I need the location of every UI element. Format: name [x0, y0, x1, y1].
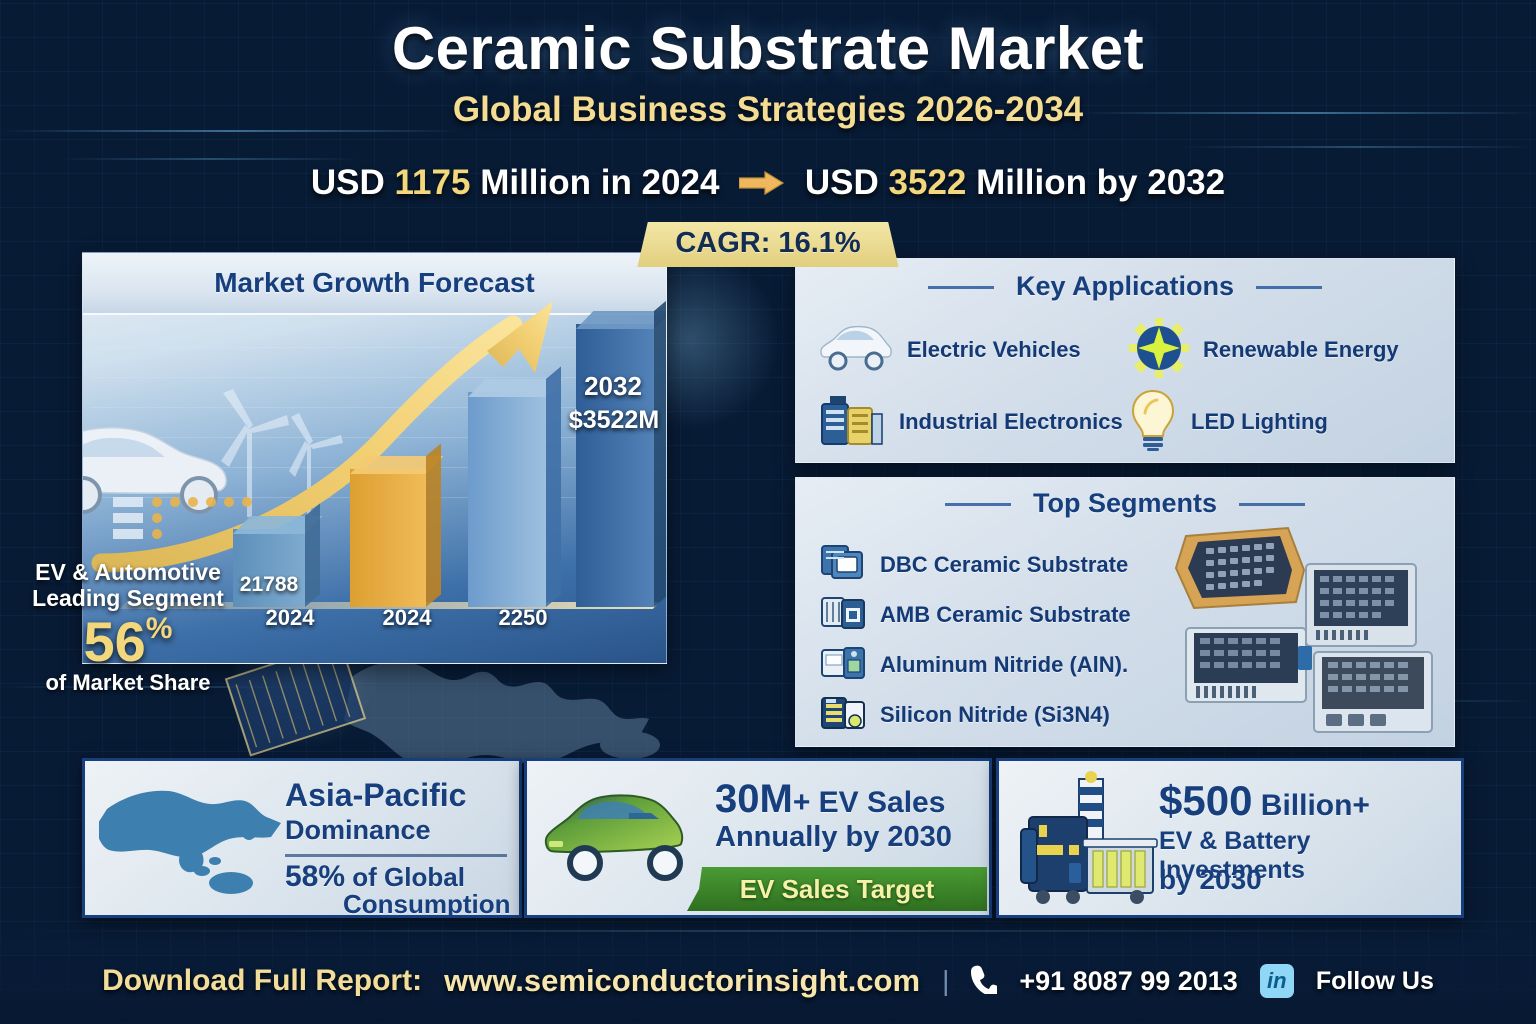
key-applications-title: Key Applications — [796, 271, 1454, 302]
inv-line-3: by 2030 — [1159, 864, 1262, 896]
car-icon — [818, 323, 894, 378]
ev-stat: 30M — [715, 777, 793, 821]
card-asia-pacific: Asia-Pacific Dominance 58% of Global Con… — [82, 758, 522, 918]
segment-label: Silicon Nitride (Si3N4) — [880, 702, 1110, 728]
value-start: 1175 — [395, 163, 471, 202]
divider — [285, 854, 507, 857]
inv-stat: $500 — [1159, 777, 1252, 824]
footer-url[interactable]: www.semiconductorinsight.com — [444, 963, 920, 999]
green-car-icon — [541, 789, 711, 889]
segment-label: Aluminum Nitride (AlN). — [880, 652, 1128, 678]
lightbulb-icon — [1128, 389, 1178, 456]
chart-bar — [576, 324, 654, 607]
linkedin-icon[interactable]: in — [1260, 964, 1294, 998]
app-item-electric-vehicles[interactable]: Electric Vehicles — [818, 316, 1128, 384]
card-ev-sales: 30M+ EV Sales Annually by 2030 EV Sales … — [524, 758, 992, 918]
chart-top-caption-value: $3522M — [549, 407, 667, 433]
apac-stat: 58% — [285, 860, 345, 893]
footer-cta-label: Download Full Report: — [102, 964, 422, 998]
callout-percent-symbol: % — [146, 612, 173, 645]
app-label: Industrial Electronics — [899, 409, 1123, 435]
ev-stat-line: 30M+ EV Sales — [715, 777, 945, 822]
top-segments-title-text: Top Segments — [1033, 488, 1217, 518]
value-start-tail: Million in 2024 — [480, 163, 719, 202]
top-segments-list: DBC Ceramic Substrate AMB Ceramic Substr… — [820, 540, 1131, 740]
ribbon-label: EV Sales Target — [740, 874, 935, 905]
bar-value-label: 21788 — [233, 573, 305, 597]
chip-module-icon — [820, 692, 866, 739]
footer-bar: Download Full Report: www.semiconductori… — [0, 938, 1536, 1024]
chart-bar: 21788 — [233, 529, 305, 607]
segment-label: DBC Ceramic Substrate — [880, 552, 1128, 578]
ev-stat-suffix: + EV Sales — [793, 786, 946, 819]
market-value-line: USD 1175 Million in 2024 USD 3522 Millio… — [0, 163, 1536, 205]
callout-line-1: EV & Automotive — [18, 560, 238, 586]
page-title: Ceramic Substrate Market — [0, 14, 1536, 83]
asia-map-icon — [99, 775, 289, 907]
value-end: 3522 — [889, 163, 967, 202]
callout-line-3: of Market Share — [18, 670, 238, 696]
app-item-industrial-electronics[interactable]: Industrial Electronics — [818, 388, 1128, 456]
segment-item-amb[interactable]: AMB Ceramic Substrate — [820, 590, 1131, 640]
app-label: Renewable Energy — [1203, 337, 1399, 363]
footer-follow-label: Follow Us — [1316, 967, 1434, 996]
app-label: LED Lighting — [1191, 409, 1328, 435]
value-prefix-end: USD — [805, 163, 879, 202]
infographic-root: Ceramic Substrate Market Global Business… — [0, 0, 1536, 1024]
segment-label: AMB Ceramic Substrate — [880, 602, 1131, 628]
card-investments: $500 Billion+ EV & Battery Investments b… — [996, 758, 1464, 918]
chart-bar — [468, 392, 546, 607]
chart-bar — [350, 469, 426, 607]
inv-stat-suffix: Billion+ — [1261, 789, 1370, 822]
sun-gear-icon — [1128, 317, 1190, 384]
apac-line-2: Dominance — [285, 815, 431, 846]
industrial-machine-icon — [818, 392, 886, 453]
right-arrow-icon — [739, 165, 785, 205]
app-item-led-lighting[interactable]: LED Lighting — [1128, 388, 1438, 456]
top-segments-title: Top Segments — [796, 488, 1454, 519]
page-subtitle: Global Business Strategies 2026-2034 — [0, 90, 1536, 130]
ev-line-2: Annually by 2030 — [715, 821, 952, 854]
key-applications-panel: Key Applications Electric Vehicles — [795, 258, 1455, 463]
apac-line-4: Consumption — [343, 889, 511, 918]
inv-stat-line: $500 Billion+ — [1159, 777, 1370, 825]
chart-top-caption-year: 2032 — [553, 373, 667, 400]
factory-battery-icon — [1017, 771, 1167, 911]
callout-percent: 56% — [18, 614, 238, 670]
key-applications-grid: Electric Vehicles — [796, 302, 1454, 456]
chip-module-icon — [820, 642, 866, 689]
callout-percent-value: 56 — [84, 610, 146, 673]
phone-icon — [971, 964, 997, 999]
app-label: Electric Vehicles — [907, 337, 1081, 363]
callout-line-2: Leading Segment — [18, 586, 238, 612]
segment-item-dbc[interactable]: DBC Ceramic Substrate — [820, 540, 1131, 590]
value-prefix-start: USD — [311, 163, 385, 202]
chip-module-icon — [820, 542, 866, 589]
footer-separator: | — [942, 965, 949, 997]
apac-line-1: Asia-Pacific — [285, 777, 466, 814]
apac-line-3: of Global — [352, 862, 465, 892]
segment-item-aln[interactable]: Aluminum Nitride (AlN). — [820, 640, 1131, 690]
ceramic-substrate-modules-image — [1158, 524, 1448, 739]
ev-sales-target-ribbon: EV Sales Target — [687, 867, 987, 911]
footer-phone[interactable]: +91 8087 99 2013 — [1019, 966, 1237, 997]
segment-item-si3n4[interactable]: Silicon Nitride (Si3N4) — [820, 690, 1131, 740]
key-applications-title-text: Key Applications — [1016, 271, 1234, 301]
ev-segment-callout: EV & Automotive Leading Segment 56% of M… — [18, 560, 238, 696]
chip-module-icon — [820, 592, 866, 639]
cagr-badge: CAGR: 16.1% — [637, 222, 898, 267]
value-end-tail: Million by 2032 — [976, 163, 1225, 202]
app-item-renewable-energy[interactable]: Renewable Energy — [1128, 316, 1438, 384]
top-segments-panel: Top Segments DBC Ceramic Substrate — [795, 477, 1455, 747]
